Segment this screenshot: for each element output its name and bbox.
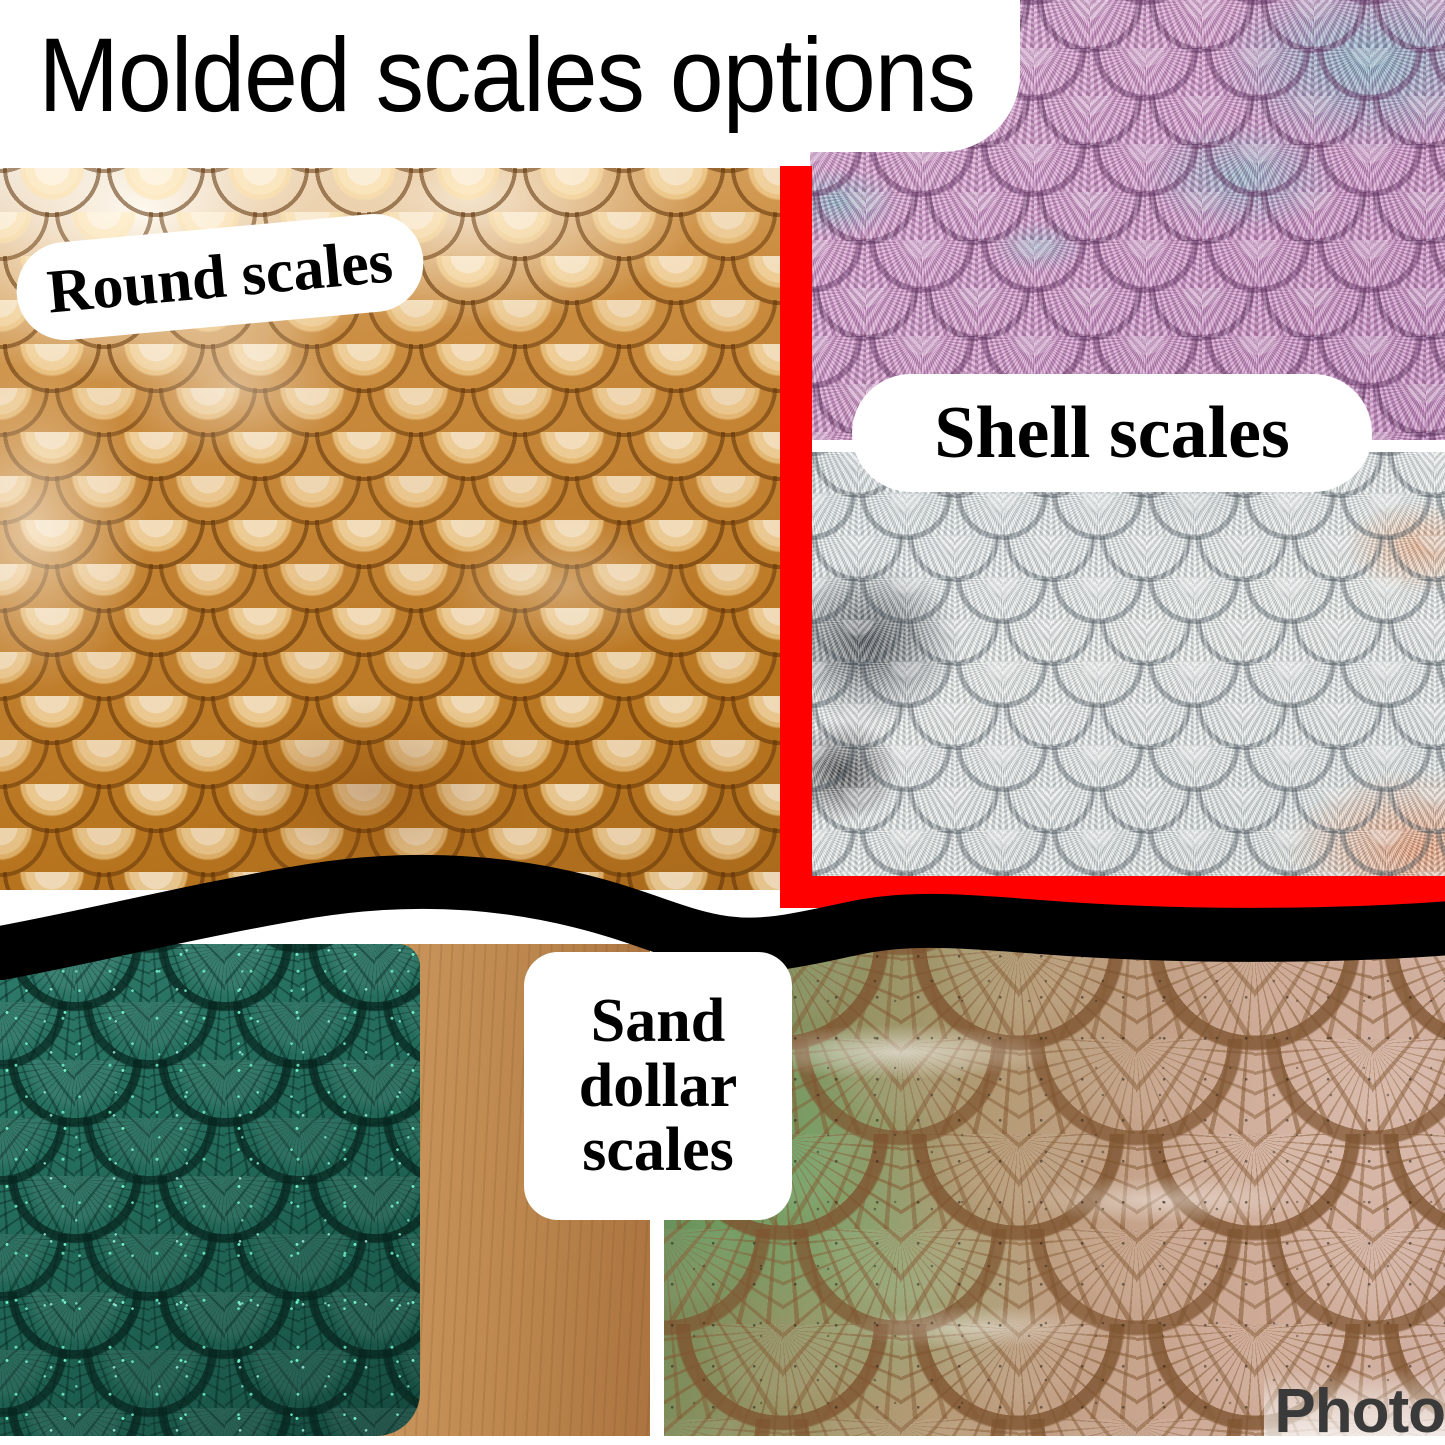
- label-shell-scales: Shell scales: [852, 374, 1372, 492]
- poster-title-pill: Molded scales options: [0, 0, 1020, 152]
- label-shell-scales-text: Shell scales: [934, 396, 1290, 470]
- label-sand-dollar-line-1: Sand: [591, 987, 725, 1055]
- label-round-scales-text: Round scales: [45, 230, 395, 323]
- shell-white-fan-row-b: [810, 452, 1445, 884]
- photo-shell-scales-white: [810, 452, 1445, 884]
- watermark-photo: Photo: [1264, 1370, 1445, 1445]
- page-title: Molded scales options: [0, 16, 975, 136]
- poster-canvas: Molded scales options Round scales Shell…: [0, 0, 1445, 1445]
- sand-dollar-green-fabric: [0, 944, 420, 1436]
- label-sand-dollar-scales-text: Sand dollar scales: [579, 989, 737, 1182]
- label-sand-dollar-line-2: dollar: [579, 1052, 737, 1120]
- sand-dollar-green-glitter: [0, 944, 420, 1436]
- label-sand-dollar-scales: Sand dollar scales: [524, 952, 792, 1220]
- divider-red-vertical: [780, 166, 812, 908]
- divider-red-gap-fill: [806, 440, 812, 454]
- label-sand-dollar-line-3: scales: [582, 1116, 734, 1184]
